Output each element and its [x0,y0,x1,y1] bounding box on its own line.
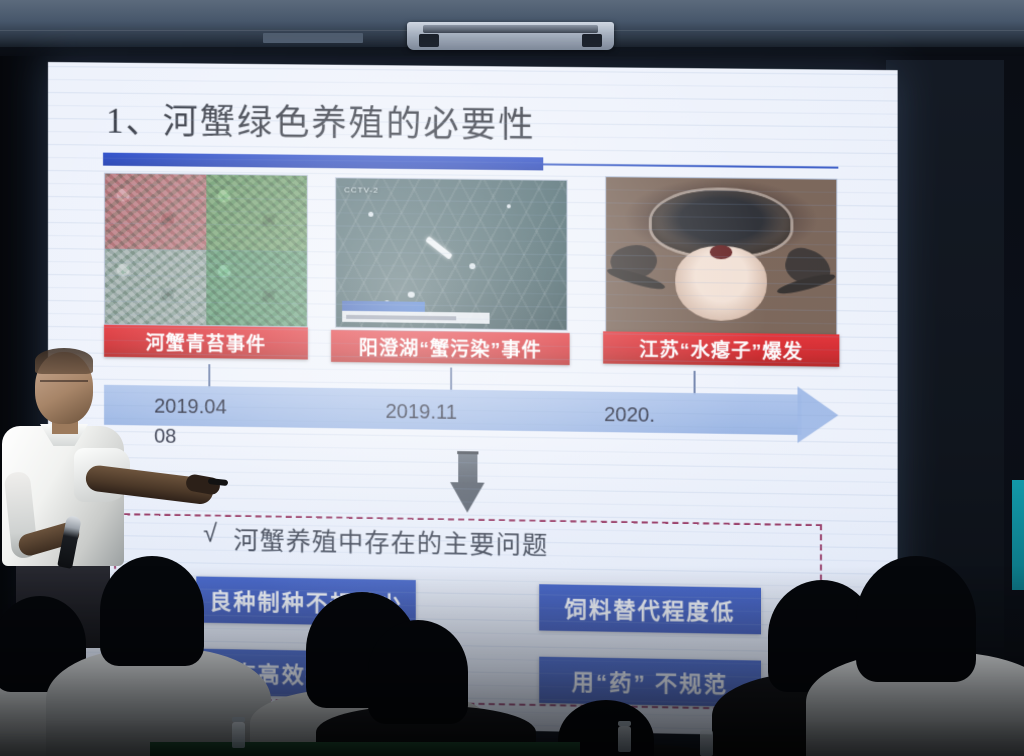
water-bottle-cap [618,721,631,726]
teal-accent-strip [1012,480,1024,590]
conference-room-photo: 1、河蟹绿色养殖的必要性 CCTV-2 [0,0,1024,756]
ceiling-mount-plate [263,33,363,43]
lake-marker-dot [506,204,510,208]
photo-caption-2: 阳澄湖“蟹污染”事件 [331,330,570,365]
projector-lens-left [419,34,439,47]
water-bottle-cap [232,717,245,722]
lake-marker-dot [407,292,414,298]
water-bottle [618,726,631,752]
ceiling-projector [407,22,614,50]
audience-head [368,620,468,724]
down-arrow-head [450,482,484,513]
water-bottle [700,730,713,756]
audience-head [856,556,976,682]
presenter-glasses [40,380,88,389]
projector-lens-right [582,34,602,47]
audience-head [100,556,204,666]
presenter-hair [35,348,93,374]
audience-table [150,742,580,756]
water-bottle [232,722,245,748]
down-arrow-stem [458,454,477,484]
